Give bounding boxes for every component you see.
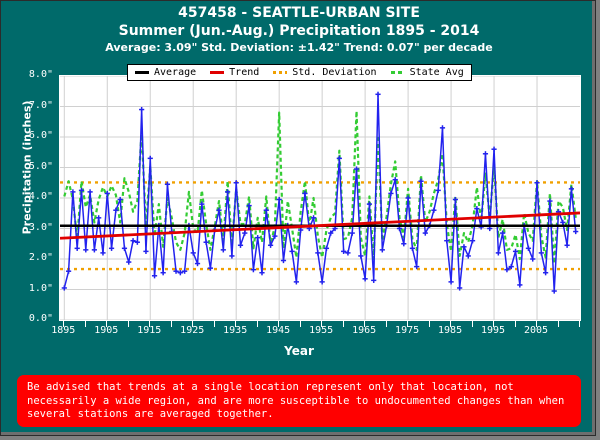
x-axis-minor-tick xyxy=(536,321,537,327)
y-tick-label: 0.0" xyxy=(7,313,53,324)
x-axis-minor-tick xyxy=(63,321,64,327)
y-tick-label: 3.0" xyxy=(7,222,53,233)
x-axis-minor-tick xyxy=(429,321,430,327)
legend-label-average: Average xyxy=(154,67,196,78)
x-axis-minor-tick xyxy=(214,321,215,327)
y-tick-label: 8.0" xyxy=(7,69,53,80)
precipitation-plot xyxy=(60,76,580,320)
x-axis-minor-tick xyxy=(386,321,387,327)
page-title: 457458 - SEATTLE-URBAN SITE xyxy=(1,5,596,21)
stddev-line-swatch-icon xyxy=(273,71,287,74)
window-shadow-right xyxy=(592,1,595,436)
x-axis-minor-tick xyxy=(579,321,580,327)
x-axis-minor-tick xyxy=(235,321,236,327)
x-axis-minor-tick xyxy=(106,321,107,327)
x-axis-minor-tick xyxy=(300,321,301,327)
x-axis-minor-tick xyxy=(450,321,451,327)
window-shadow-bottom xyxy=(1,432,596,435)
x-axis-minor-tick xyxy=(472,321,473,327)
y-tick-label: 4.0" xyxy=(7,191,53,202)
chart-statistics-line: Average: 3.09" Std. Deviation: ±1.42" Tr… xyxy=(1,41,596,54)
x-axis-minor-tick xyxy=(149,321,150,327)
x-axis-minor-tick xyxy=(278,321,279,327)
disclaimer-banner: Be advised that trends at a single locat… xyxy=(17,375,581,427)
legend-item-average: Average xyxy=(135,67,196,78)
x-axis-minor-tick xyxy=(343,321,344,327)
x-axis-minor-tick xyxy=(192,321,193,327)
legend-item-stddev: Std. Deviation xyxy=(273,67,376,78)
y-tick-label: 1.0" xyxy=(7,283,53,294)
y-tick-label: 5.0" xyxy=(7,161,53,172)
chart-window: 457458 - SEATTLE-URBAN SITE Summer (Jun.… xyxy=(0,0,596,436)
y-tick-label: 2.0" xyxy=(7,252,53,263)
x-axis-minor-tick xyxy=(407,321,408,327)
x-axis-minor-tick xyxy=(128,321,129,327)
legend-item-state-avg: State Avg xyxy=(391,67,464,78)
y-tick-label: 6.0" xyxy=(7,130,53,141)
x-axis-minor-tick xyxy=(558,321,559,327)
x-axis-minor-tick xyxy=(515,321,516,327)
legend-label-trend: Trend xyxy=(229,67,259,78)
trend-line-swatch-icon xyxy=(210,71,224,74)
x-axis-minor-tick xyxy=(364,321,365,327)
y-tick-label: 7.0" xyxy=(7,100,53,111)
chart-subtitle: Summer (Jun.-Aug.) Precipitation 1895 - … xyxy=(1,23,596,39)
x-axis-minor-tick xyxy=(493,321,494,327)
plot-area xyxy=(59,75,581,321)
x-axis-minor-tick xyxy=(171,321,172,327)
x-axis-minor-tick xyxy=(257,321,258,327)
x-axis-minor-tick xyxy=(85,321,86,327)
x-axis-title: Year xyxy=(1,344,596,358)
chart-legend: Average Trend Std. Deviation State Avg xyxy=(127,64,472,81)
legend-item-trend: Trend xyxy=(210,67,259,78)
x-axis-minor-tick xyxy=(321,321,322,327)
legend-label-state-avg: State Avg xyxy=(410,67,464,78)
average-line-swatch-icon xyxy=(135,71,149,74)
state-avg-line-swatch-icon xyxy=(391,71,405,74)
legend-label-stddev: Std. Deviation xyxy=(292,67,376,78)
